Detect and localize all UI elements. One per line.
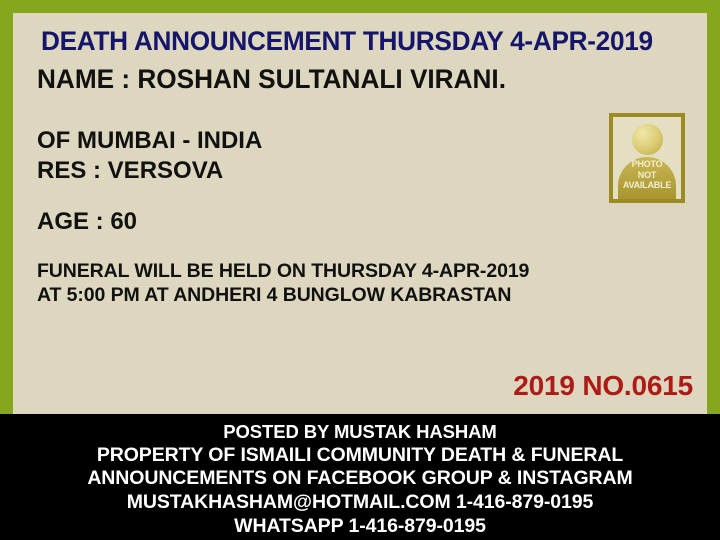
- city-line: OF MUMBAI - INDIA: [37, 126, 687, 155]
- photo-caption-line-2: NOT: [613, 170, 681, 181]
- spacer-after-residence: [35, 185, 687, 207]
- photo-placeholder-caption: PHOTO NOT AVAILABLE: [613, 159, 681, 191]
- funeral-details-line-2: AT 5:00 PM AT ANDHERI 4 BUNGLOW KABRASTA…: [37, 284, 687, 308]
- photo-caption-line-1: PHOTO: [613, 159, 681, 170]
- photo-placeholder-inner: PHOTO NOT AVAILABLE: [613, 117, 681, 199]
- deceased-name-line: NAME : ROSHAN SULTANALI VIRANI.: [37, 63, 668, 96]
- funeral-details-line-1: FUNERAL WILL BE HELD ON THURSDAY 4-APR-2…: [37, 260, 687, 284]
- residence-line: RES : VERSOVA: [37, 156, 687, 185]
- reference-number: 2019 NO.0615: [513, 370, 693, 402]
- death-announcement-poster: DEATH ANNOUNCEMENT THURSDAY 4-APR-2019 N…: [0, 0, 720, 540]
- footer-credits: POSTED BY MUSTAK HASHAM PROPERTY OF ISMA…: [0, 414, 720, 540]
- footer-email-phone: MUSTAKHASHAM@HOTMAIL.COM 1-416-879-0195: [0, 491, 720, 515]
- green-border-frame: DEATH ANNOUNCEMENT THURSDAY 4-APR-2019 N…: [0, 0, 720, 414]
- notice-body: NAME : ROSHAN SULTANALI VIRANI. OF MUMBA…: [35, 63, 687, 307]
- spacer-after-name: [35, 96, 687, 126]
- footer-property-line: PROPERTY OF ISMAILI COMMUNITY DEATH & FU…: [0, 444, 720, 468]
- person-head-icon: [632, 124, 663, 155]
- spacer-after-age: [35, 236, 687, 260]
- notice-panel: DEATH ANNOUNCEMENT THURSDAY 4-APR-2019 N…: [13, 13, 707, 414]
- footer-whatsapp: WHATSAPP 1-416-879-0195: [0, 515, 720, 539]
- footer-announcements-line: ANNOUNCEMENTS ON FACEBOOK GROUP & INSTAG…: [0, 467, 720, 491]
- footer-posted-by: POSTED BY MUSTAK HASHAM: [0, 421, 720, 444]
- photo-placeholder: PHOTO NOT AVAILABLE: [609, 113, 685, 203]
- age-line: AGE : 60: [37, 207, 687, 236]
- photo-caption-line-3: AVAILABLE: [613, 180, 681, 191]
- page-title: DEATH ANNOUNCEMENT THURSDAY 4-APR-2019: [41, 27, 668, 55]
